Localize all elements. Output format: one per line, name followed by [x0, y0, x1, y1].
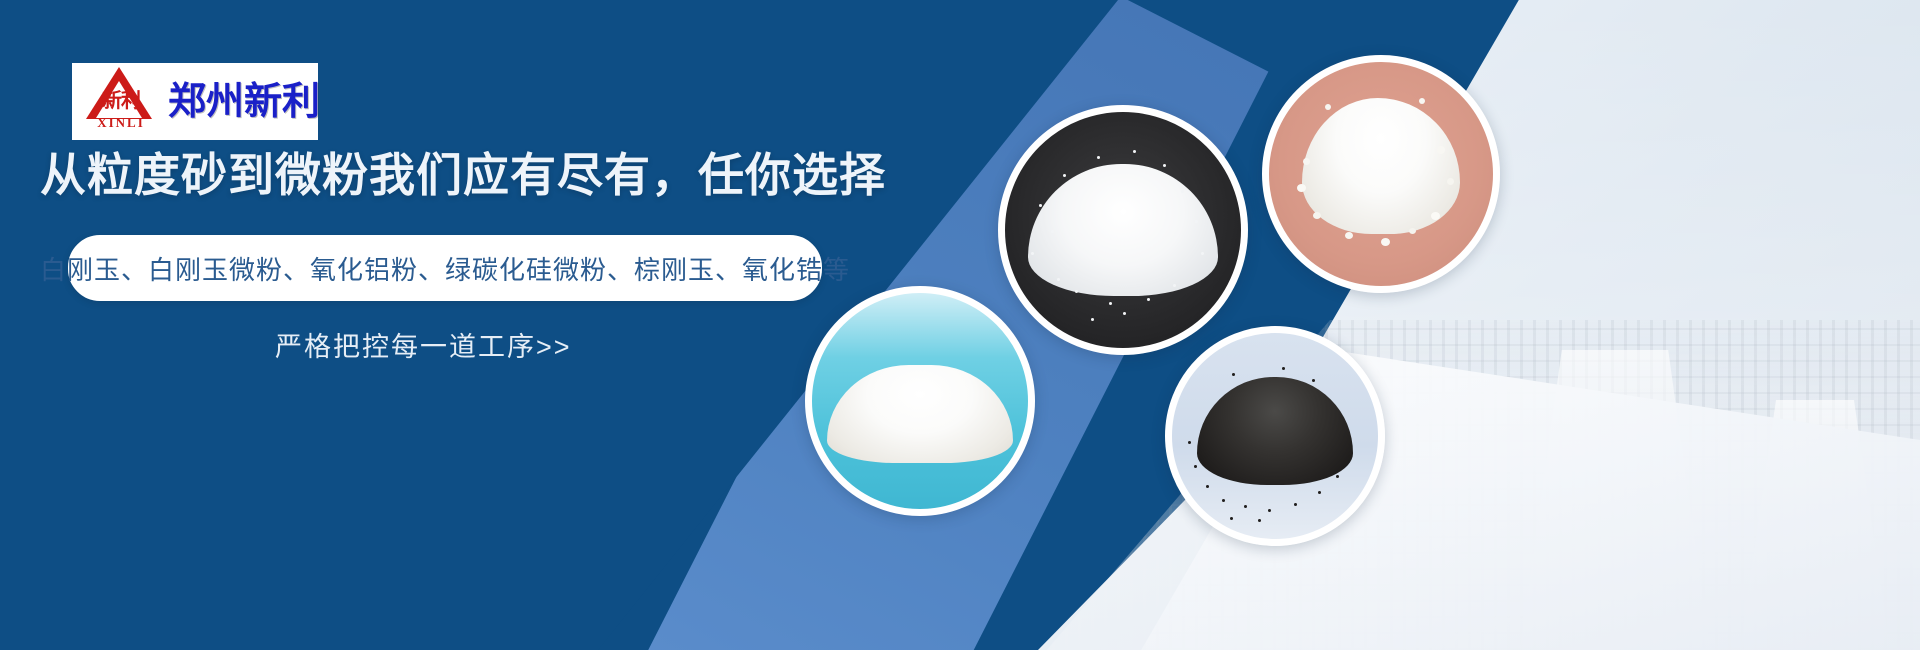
- process-cta-link[interactable]: 严格把控每一道工序>>: [275, 325, 572, 364]
- product-list-pill[interactable]: 白刚玉、白刚玉微粉、氧化铝粉、绿碳化硅微粉、棕刚玉、氧化锆等: [68, 235, 822, 301]
- product-image-white-abrasive-grain[interactable]: [998, 105, 1248, 355]
- product-image-black-silicon-carbide-grain[interactable]: [1165, 326, 1385, 546]
- company-logo[interactable]: 新利 XINLI 郑州新利: [72, 63, 318, 140]
- product-list-text: 白刚玉、白刚玉微粉、氧化铝粉、绿碳化硅微粉、棕刚玉、氧化锆等: [40, 250, 850, 287]
- promo-banner: 新利 XINLI 郑州新利 从粒度砂到微粉我们应有尽有，任你选择 白刚玉、白刚玉…: [0, 0, 1920, 650]
- logo-mark-cn-text: 新利: [80, 91, 162, 111]
- logo-brand-text: 郑州新利: [168, 83, 320, 121]
- product-image-white-powder-cone[interactable]: [805, 286, 1035, 516]
- logo-mark-en-text: XINLI: [78, 115, 164, 131]
- product-image-white-fine-powder[interactable]: [1262, 55, 1500, 293]
- page-title: 从粒度砂到微粉我们应有尽有，任你选择: [40, 147, 886, 205]
- xinli-triangle-icon: 新利 XINLI: [78, 65, 164, 139]
